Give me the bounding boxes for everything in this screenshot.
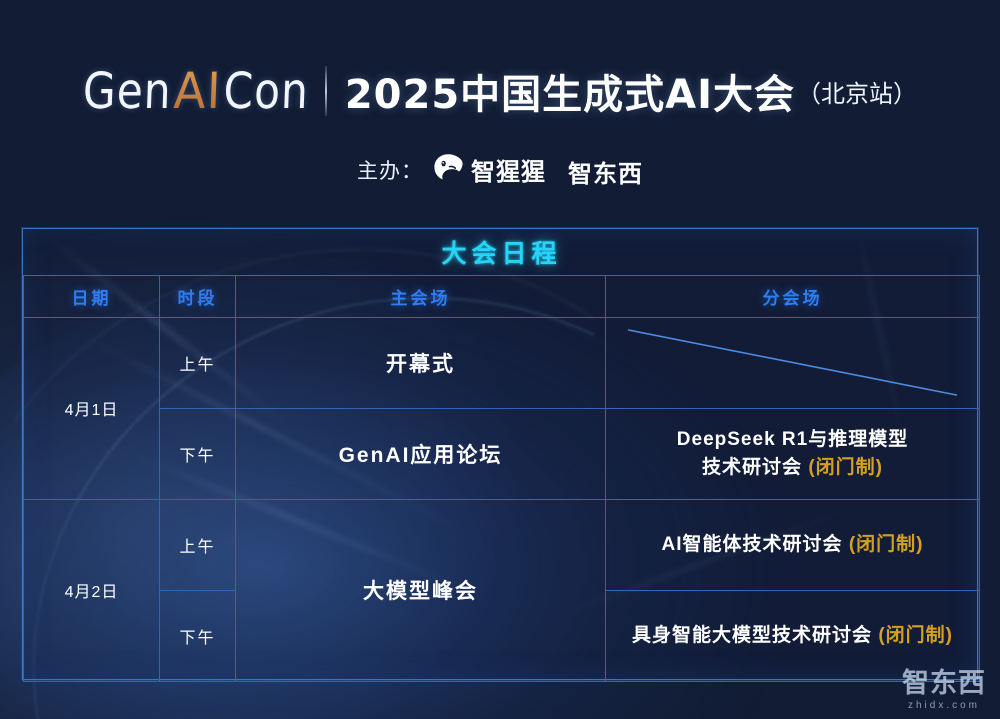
closed-door-tag: (闭门制) xyxy=(878,625,953,646)
main-venue-label: 开幕式 xyxy=(386,353,455,376)
genaicon-wordmark: GenAICon xyxy=(82,62,310,120)
page-title-suffix: （北京站） xyxy=(797,74,917,109)
cell-main-llm-summit: 大模型峰会 xyxy=(236,499,606,681)
cell-slot-afternoon-d1: 下午 xyxy=(160,408,236,499)
sub-venue-line2: 技术研讨会 xyxy=(702,457,802,478)
cell-slot-morning-d2: 上午 xyxy=(160,499,236,590)
main-venue-label: 大模型峰会 xyxy=(363,580,478,603)
poster-canvas: GenAICon 2025中国生成式AI大会 （北京站） 主办： 智猩猩 xyxy=(0,0,1000,719)
column-header-slot-label: 时段 xyxy=(178,289,218,308)
wordmark-con: Con xyxy=(223,62,310,120)
sponsor-name-zhixingxing: 智猩猩 xyxy=(471,152,546,187)
cell-slot-morning-d1: 上午 xyxy=(160,317,236,408)
sub-venue-block: 具身智能大模型技术研讨会 (闭门制) xyxy=(606,622,979,650)
cell-date-april-1: 4月1日 xyxy=(24,317,160,499)
table-row: 下午 GenAI应用论坛 DeepSeek R1与推理模型 技术研讨会 (闭门制… xyxy=(24,408,980,499)
date-label: 4月2日 xyxy=(65,584,119,601)
date-label: 4月1日 xyxy=(65,402,119,419)
sponsor-zhixingxing: 智猩猩 xyxy=(433,152,546,187)
closed-door-tag: (闭门制) xyxy=(849,534,924,555)
cell-slot-afternoon-d2: 下午 xyxy=(160,590,236,681)
sponsor-zhidongxi: 智东西 xyxy=(568,150,643,189)
sub-venue-line2-wrap: 技术研讨会 (闭门制) xyxy=(606,454,979,482)
sub-venue-block: AI智能体技术研讨会 (闭门制) xyxy=(606,531,979,559)
sponsor-label: 主办： xyxy=(357,155,423,185)
page-title: 2025中国生成式AI大会 xyxy=(345,62,795,120)
column-header-slot: 时段 xyxy=(160,275,236,317)
sub-venue-line1: DeepSeek R1与推理模型 xyxy=(606,426,979,454)
column-header-main-venue: 主会场 xyxy=(236,275,606,317)
slot-label: 下午 xyxy=(179,630,215,647)
column-header-sub-venue: 分会场 xyxy=(606,275,980,317)
schedule-banner-title: 大会日程 xyxy=(442,240,562,268)
poster-header: GenAICon 2025中国生成式AI大会 （北京站） 主办： 智猩猩 xyxy=(0,0,1000,215)
sub-venue-line1: 具身智能大模型技术研讨会 xyxy=(632,625,872,646)
cell-sub-embodied-ai-workshop: 具身智能大模型技术研讨会 (闭门制) xyxy=(606,590,980,681)
cell-date-april-2: 4月2日 xyxy=(24,499,160,681)
table-row: 4月2日 上午 大模型峰会 AI智能体技术研讨会 (闭门制) xyxy=(24,499,980,590)
title-row: GenAICon 2025中国生成式AI大会 （北京站） xyxy=(0,62,1000,120)
slot-label: 下午 xyxy=(179,448,215,465)
table-banner-row: 大会日程 xyxy=(24,229,980,275)
table-header-row: 日期 时段 主会场 分会场 xyxy=(24,275,980,317)
column-header-main-venue-label: 主会场 xyxy=(391,289,451,308)
main-venue-label: GenAI应用论坛 xyxy=(339,444,503,467)
wordmark-ai: AI xyxy=(171,62,225,120)
wordmark-gen: Gen xyxy=(82,62,173,120)
diagonal-slash-icon xyxy=(606,318,979,408)
watermark-url: zhidx.com xyxy=(902,700,986,711)
cell-sub-empty-d1-morning xyxy=(606,317,980,408)
cell-sub-deepseek-workshop: DeepSeek R1与推理模型 技术研讨会 (闭门制) xyxy=(606,408,980,499)
table-row: 4月1日 上午 开幕式 xyxy=(24,317,980,408)
column-header-date: 日期 xyxy=(24,275,160,317)
slot-label: 上午 xyxy=(179,539,215,556)
schedule-table: 大会日程 日期 时段 主会场 分会场 xyxy=(23,229,980,682)
slot-label: 上午 xyxy=(179,357,215,374)
schedule-table-container: 大会日程 日期 时段 主会场 分会场 xyxy=(22,228,978,680)
cell-sub-ai-agent-workshop: AI智能体技术研讨会 (闭门制) xyxy=(606,499,980,590)
cell-main-opening-ceremony: 开幕式 xyxy=(236,317,606,408)
column-header-sub-venue-label: 分会场 xyxy=(763,289,823,308)
cell-main-genai-forum: GenAI应用论坛 xyxy=(236,408,606,499)
sub-venue-line1: AI智能体技术研讨会 xyxy=(662,534,843,555)
sponsor-name-zhidongxi: 智东西 xyxy=(568,150,643,189)
title-divider xyxy=(325,66,327,116)
column-header-date-label: 日期 xyxy=(72,289,112,308)
ape-logo-icon xyxy=(433,153,463,186)
schedule-banner-cell: 大会日程 xyxy=(24,229,980,275)
sponsor-row: 主办： 智猩猩 智东西 xyxy=(0,150,1000,189)
sub-venue-block: DeepSeek R1与推理模型 技术研讨会 (闭门制) xyxy=(606,426,979,481)
closed-door-tag: (闭门制) xyxy=(808,457,883,478)
